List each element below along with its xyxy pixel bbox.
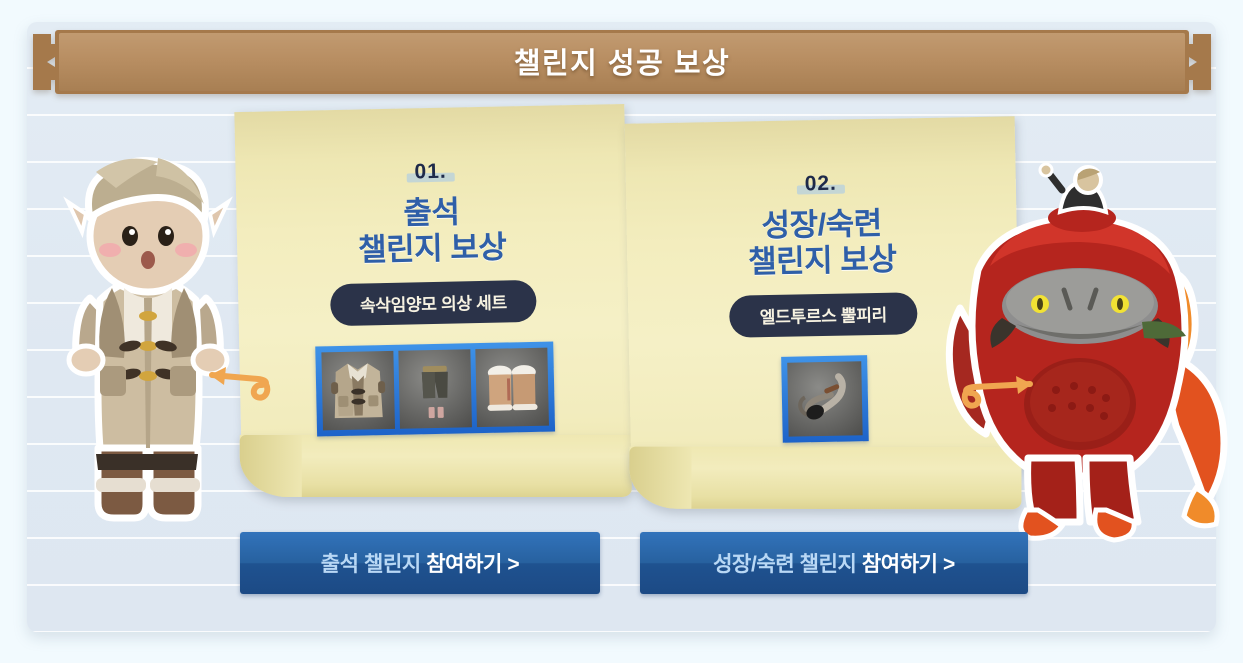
join-attendance-challenge-button[interactable]: 출석 챌린지 참여하기 >: [240, 532, 600, 594]
card-title: 성장/숙련 챌린지 보상: [747, 206, 897, 281]
reward-name-badge: 속삭임양모 의상 세트: [329, 280, 537, 326]
card-title-line2: 챌린지 보상: [358, 229, 507, 268]
shorts-item-icon[interactable]: [398, 349, 472, 428]
reward-name-badge: 엘드투르스 뿔피리: [729, 292, 917, 338]
reward-card-growth: 02. 성장/숙련 챌린지 보상 엘드투르스 뿔피리: [625, 116, 1022, 478]
card-title-line2: 챌린지 보상: [748, 242, 897, 281]
promo-page: 챌린지 성공 보상 01. 출석 챌린지 보상 속삭임양모 의상 세트: [0, 0, 1243, 663]
cta-label-hard: 참여하기 >: [426, 553, 519, 576]
card-number: 01.: [414, 160, 447, 185]
header-banner: 챌린지 성공 보상: [33, 28, 1211, 96]
cta-label: 출석 챌린지 참여하기 >: [321, 548, 519, 578]
card-number: 02.: [804, 172, 837, 197]
join-growth-challenge-button[interactable]: 성장/숙련 챌린지 참여하기 >: [640, 532, 1028, 594]
horn-item-icon[interactable]: [787, 361, 862, 436]
cta-label-soft: 성장/숙련 챌린지: [713, 553, 862, 576]
card-title-line1: 출석: [357, 193, 506, 232]
cta-label-soft: 출석 챌린지: [321, 553, 426, 576]
item-frame: [781, 355, 869, 443]
coat-item-icon[interactable]: [321, 351, 395, 430]
cta-label-hard: 참여하기 >: [862, 553, 955, 576]
item-frame: [315, 341, 555, 436]
banner-shape: [33, 28, 1211, 96]
card-title: 출석 챌린지 보상: [357, 193, 507, 268]
cta-label: 성장/숙련 챌린지 참여하기 >: [713, 548, 955, 578]
boots-item-icon[interactable]: [475, 348, 549, 427]
card-title-line1: 성장/숙련: [747, 206, 896, 245]
reward-card-attendance: 01. 출석 챌린지 보상 속삭임양모 의상 세트: [234, 104, 631, 467]
banner-svg: [33, 28, 1211, 96]
